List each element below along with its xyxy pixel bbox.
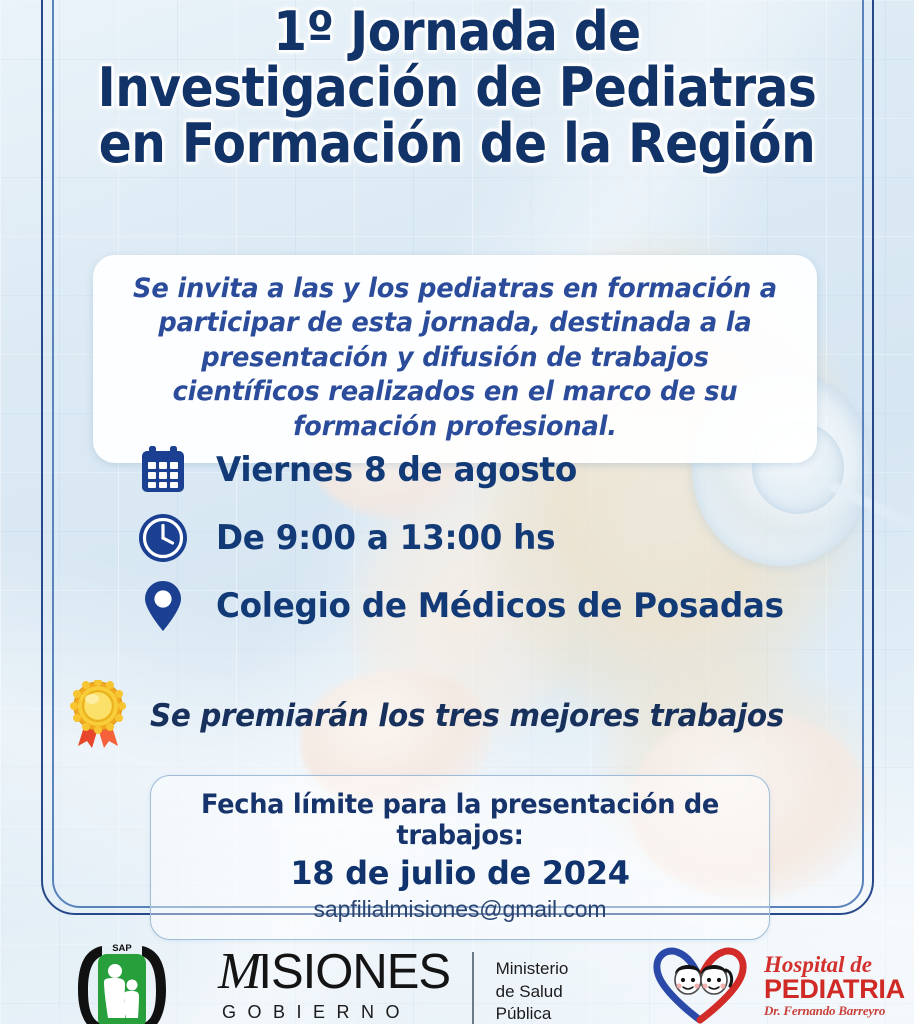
misiones-italic-m: M — [218, 946, 256, 998]
title-line-3: en Formación de la Región — [91, 116, 824, 172]
event-detail-location-label: Colegio de Médicos de Posadas — [216, 586, 784, 626]
prize-label: Se premiarán los tres mejores trabajos — [150, 698, 784, 734]
calendar-icon — [136, 442, 190, 498]
invitation-text: Se invita a las y los pediatras en forma… — [129, 272, 781, 444]
deadline-title: Fecha límite para la presentación de tra… — [185, 789, 734, 851]
hospital-line-3: Dr. Fernando Barreyro — [764, 1004, 905, 1017]
poster-canvas: 1º Jornada de Investigación de Pediatras… — [0, 0, 914, 1024]
hospital-pediatria-block: Hospital de PEDIATRIA Dr. Fernando Barre… — [648, 942, 905, 1024]
title-line-1: 1º Jornada de — [91, 4, 824, 60]
poster-content: 1º Jornada de Investigación de Pediatras… — [0, 0, 914, 1024]
misiones-word-rest: ISIONES — [258, 948, 450, 997]
event-detail-time-label: De 9:00 a 13:00 hs — [216, 518, 555, 558]
event-detail-time: De 9:00 a 13:00 hs — [136, 504, 836, 572]
hospital-name: Hospital de PEDIATRIA Dr. Fernando Barre… — [764, 953, 905, 1017]
title-line-2: Investigación de Pediatras — [91, 60, 824, 116]
event-detail-location: Colegio de Médicos de Posadas — [136, 572, 836, 640]
misiones-wordmark: MISIONES GOBIERNO — [218, 946, 450, 1023]
deadline-date: 18 de julio de 2024 — [171, 854, 749, 892]
misiones-word: MISIONES — [218, 946, 450, 998]
award-medal-icon — [68, 680, 130, 752]
event-detail-date-label: Viernes 8 de agosto — [216, 450, 577, 490]
invitation-card: Se invita a las y los pediatras en forma… — [93, 255, 817, 463]
footer-logos: SAP MISIONES MISIONES — [0, 930, 914, 1024]
sap-misiones-logo: SAP MISIONES — [68, 940, 176, 1024]
deadline-card: Fecha límite para la presentación de tra… — [150, 775, 770, 940]
prize-row: Se premiarán los tres mejores trabajos — [68, 680, 858, 752]
ministerio-salud-label: Ministerio de Salud Pública — [496, 958, 569, 1024]
clock-icon — [136, 510, 190, 566]
location-pin-icon — [136, 578, 190, 634]
footer-divider — [472, 952, 474, 1024]
event-detail-date: Viernes 8 de agosto — [136, 436, 836, 504]
event-details-list: Viernes 8 de agosto De 9:00 a 13:00 hs — [136, 436, 836, 640]
hospital-line-2: PEDIATRIA — [764, 976, 905, 1004]
page-title: 1º Jornada de Investigación de Pediatras… — [91, 4, 824, 172]
contact-email[interactable]: sapfilialmisiones@gmail.com — [171, 896, 749, 923]
misiones-subtitle: GOBIERNO — [222, 1002, 450, 1023]
hospital-heart-children-icon — [648, 942, 756, 1024]
misiones-gobierno-block: MISIONES GOBIERNO Ministerio de Salud Pú… — [218, 946, 568, 1024]
hospital-line-1: Hospital de — [764, 953, 905, 976]
svg-text:SAP: SAP — [112, 943, 132, 954]
